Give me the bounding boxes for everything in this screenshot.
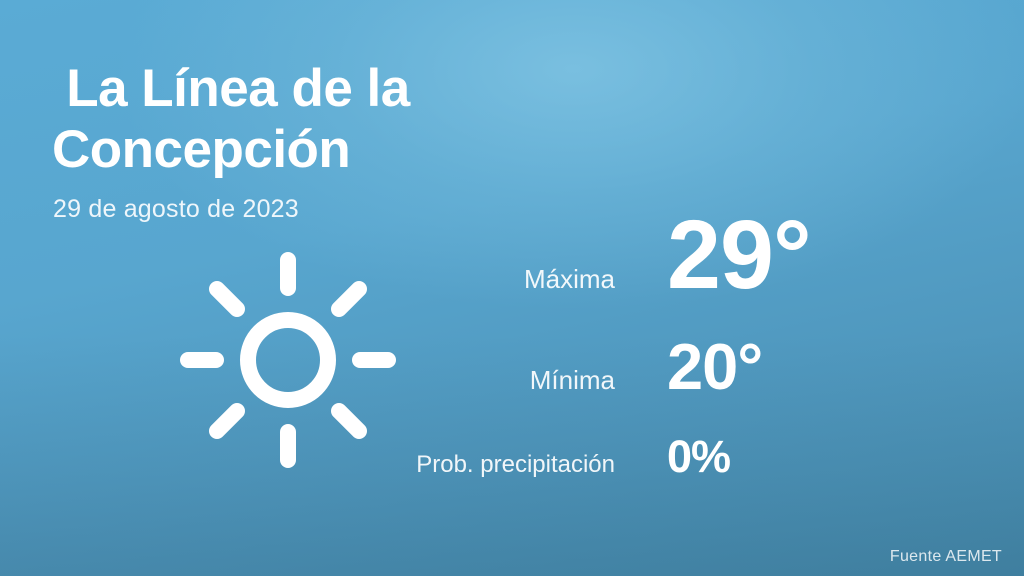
heading-block: La Línea de la Concepción 29 de agosto d… xyxy=(52,58,612,224)
source-attribution: Fuente AEMET xyxy=(890,548,1002,566)
stat-value-minima: 20° xyxy=(667,334,762,399)
stat-label-precipitacion: Prob. precipitación xyxy=(380,451,667,479)
sun-rays xyxy=(188,260,388,460)
stats-list: Máxima 29° Mínima 20° Prob. precipitació… xyxy=(380,206,980,479)
stat-row-maxima: Máxima 29° xyxy=(380,206,980,334)
stat-row-precipitacion: Prob. precipitación 0% xyxy=(380,434,980,479)
sun-disc xyxy=(248,320,328,400)
stat-row-minima: Mínima 20° xyxy=(380,334,980,434)
stat-value-maxima: 29° xyxy=(667,206,811,303)
stat-label-minima: Mínima xyxy=(380,365,667,396)
stat-value-precipitacion: 0% xyxy=(667,434,730,479)
location-title: La Línea de la Concepción xyxy=(52,58,612,181)
weather-card: La Línea de la Concepción 29 de agosto d… xyxy=(0,0,1024,576)
sun-icon xyxy=(178,250,398,470)
stat-label-maxima: Máxima xyxy=(380,264,667,295)
